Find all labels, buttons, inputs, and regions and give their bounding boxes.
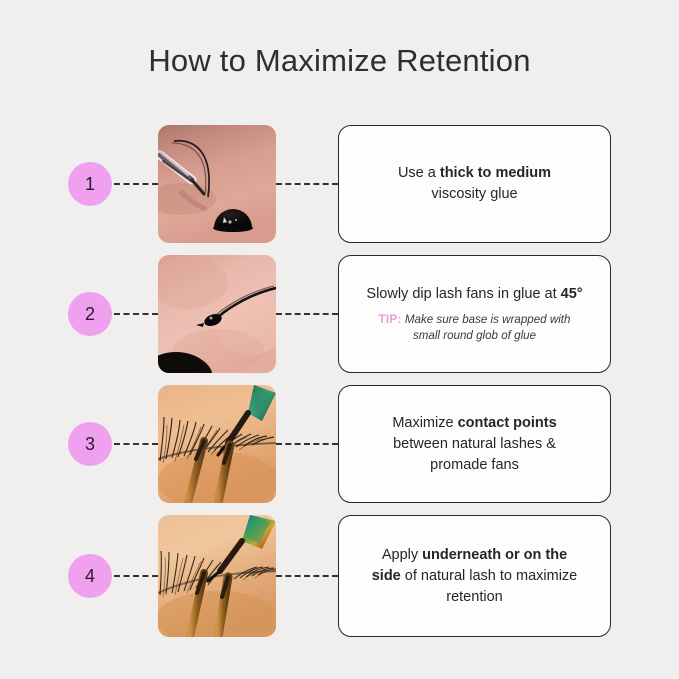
connector-line-right — [276, 443, 338, 445]
step-text-card: Apply underneath or on theside of natura… — [338, 515, 611, 637]
step-number-badge: 1 — [68, 162, 112, 206]
connector-line-right — [276, 313, 338, 315]
steps-list: 1 — [0, 125, 679, 649]
page-title: How to Maximize Retention — [0, 43, 679, 79]
connector-line-left — [114, 313, 158, 315]
step-text: Maximize contact pointsbetween natural l… — [392, 413, 556, 476]
infographic-page: How to Maximize Retention 1 — [0, 0, 679, 679]
step-number-label: 1 — [85, 174, 95, 195]
step-number-badge: 3 — [68, 422, 112, 466]
step-photo — [158, 125, 276, 243]
connector-line-right — [276, 575, 338, 577]
step-photo — [158, 385, 276, 503]
tip-label: TIP: — [379, 313, 402, 326]
step-number-label: 3 — [85, 434, 95, 455]
step-row: 2 — [0, 255, 679, 373]
step-row: 4 — [0, 515, 679, 637]
lash-underneath-application-illustration — [158, 515, 276, 637]
step-text-card: Use a thick to mediumviscosity glue — [338, 125, 611, 243]
step-number-badge: 4 — [68, 554, 112, 598]
step-number-label: 2 — [85, 304, 95, 325]
step-photo — [158, 255, 276, 373]
connector-line-left — [114, 575, 158, 577]
step-text: Slowly dip lash fans in glue at 45° — [366, 284, 582, 305]
connector-line-left — [114, 183, 158, 185]
step-number-badge: 2 — [68, 292, 112, 336]
step-text-card: Maximize contact pointsbetween natural l… — [338, 385, 611, 503]
step-text: Use a thick to mediumviscosity glue — [398, 163, 551, 205]
connector-line-left — [114, 443, 158, 445]
lash-fan-dipping-illustration — [158, 255, 276, 373]
step-row: 3 — [0, 385, 679, 503]
lash-glue-drop-illustration — [158, 125, 276, 243]
step-text: Apply underneath or on theside of natura… — [372, 545, 578, 608]
connector-line-right — [276, 183, 338, 185]
step-number-label: 4 — [85, 566, 95, 587]
lash-contact-points-illustration — [158, 385, 276, 503]
step-photo — [158, 515, 276, 637]
step-tip: TIP: Make sure base is wrapped withsmall… — [379, 312, 571, 344]
step-text-card: Slowly dip lash fans in glue at 45° TIP:… — [338, 255, 611, 373]
step-row: 1 — [0, 125, 679, 243]
